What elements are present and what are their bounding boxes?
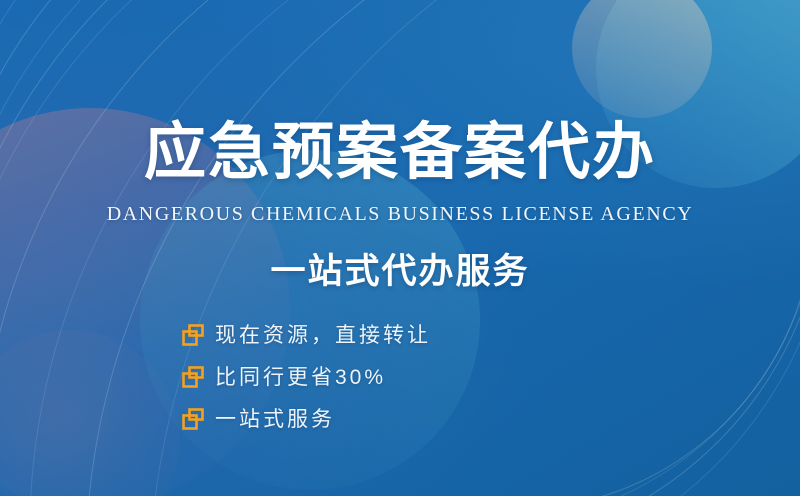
list-item-label: 一站式服务 [215, 409, 335, 430]
list-item-label: 比同行更省30% [215, 367, 386, 388]
list-item: 比同行更省30% [182, 358, 431, 396]
list-item: 一站式服务 [182, 400, 431, 438]
feature-list: 现在资源，直接转让 比同行更省30% 一站式 [182, 316, 431, 442]
service-tagline: 一站式代办服务 [0, 243, 800, 294]
list-item-label: 现在资源，直接转让 [215, 325, 431, 346]
page-title: 应急预案备案代办 [0, 120, 800, 187]
double-square-icon [182, 408, 204, 430]
english-subtitle: DANGEROUS CHEMICALS BUSINESS LICENSE AGE… [0, 203, 800, 226]
double-square-icon [182, 324, 204, 346]
banner-content: 应急预案备案代办 DANGEROUS CHEMICALS BUSINESS LI… [0, 0, 800, 496]
promo-banner: 应急预案备案代办 DANGEROUS CHEMICALS BUSINESS LI… [0, 0, 800, 496]
list-item: 现在资源，直接转让 [182, 316, 431, 354]
double-square-icon [182, 366, 204, 388]
